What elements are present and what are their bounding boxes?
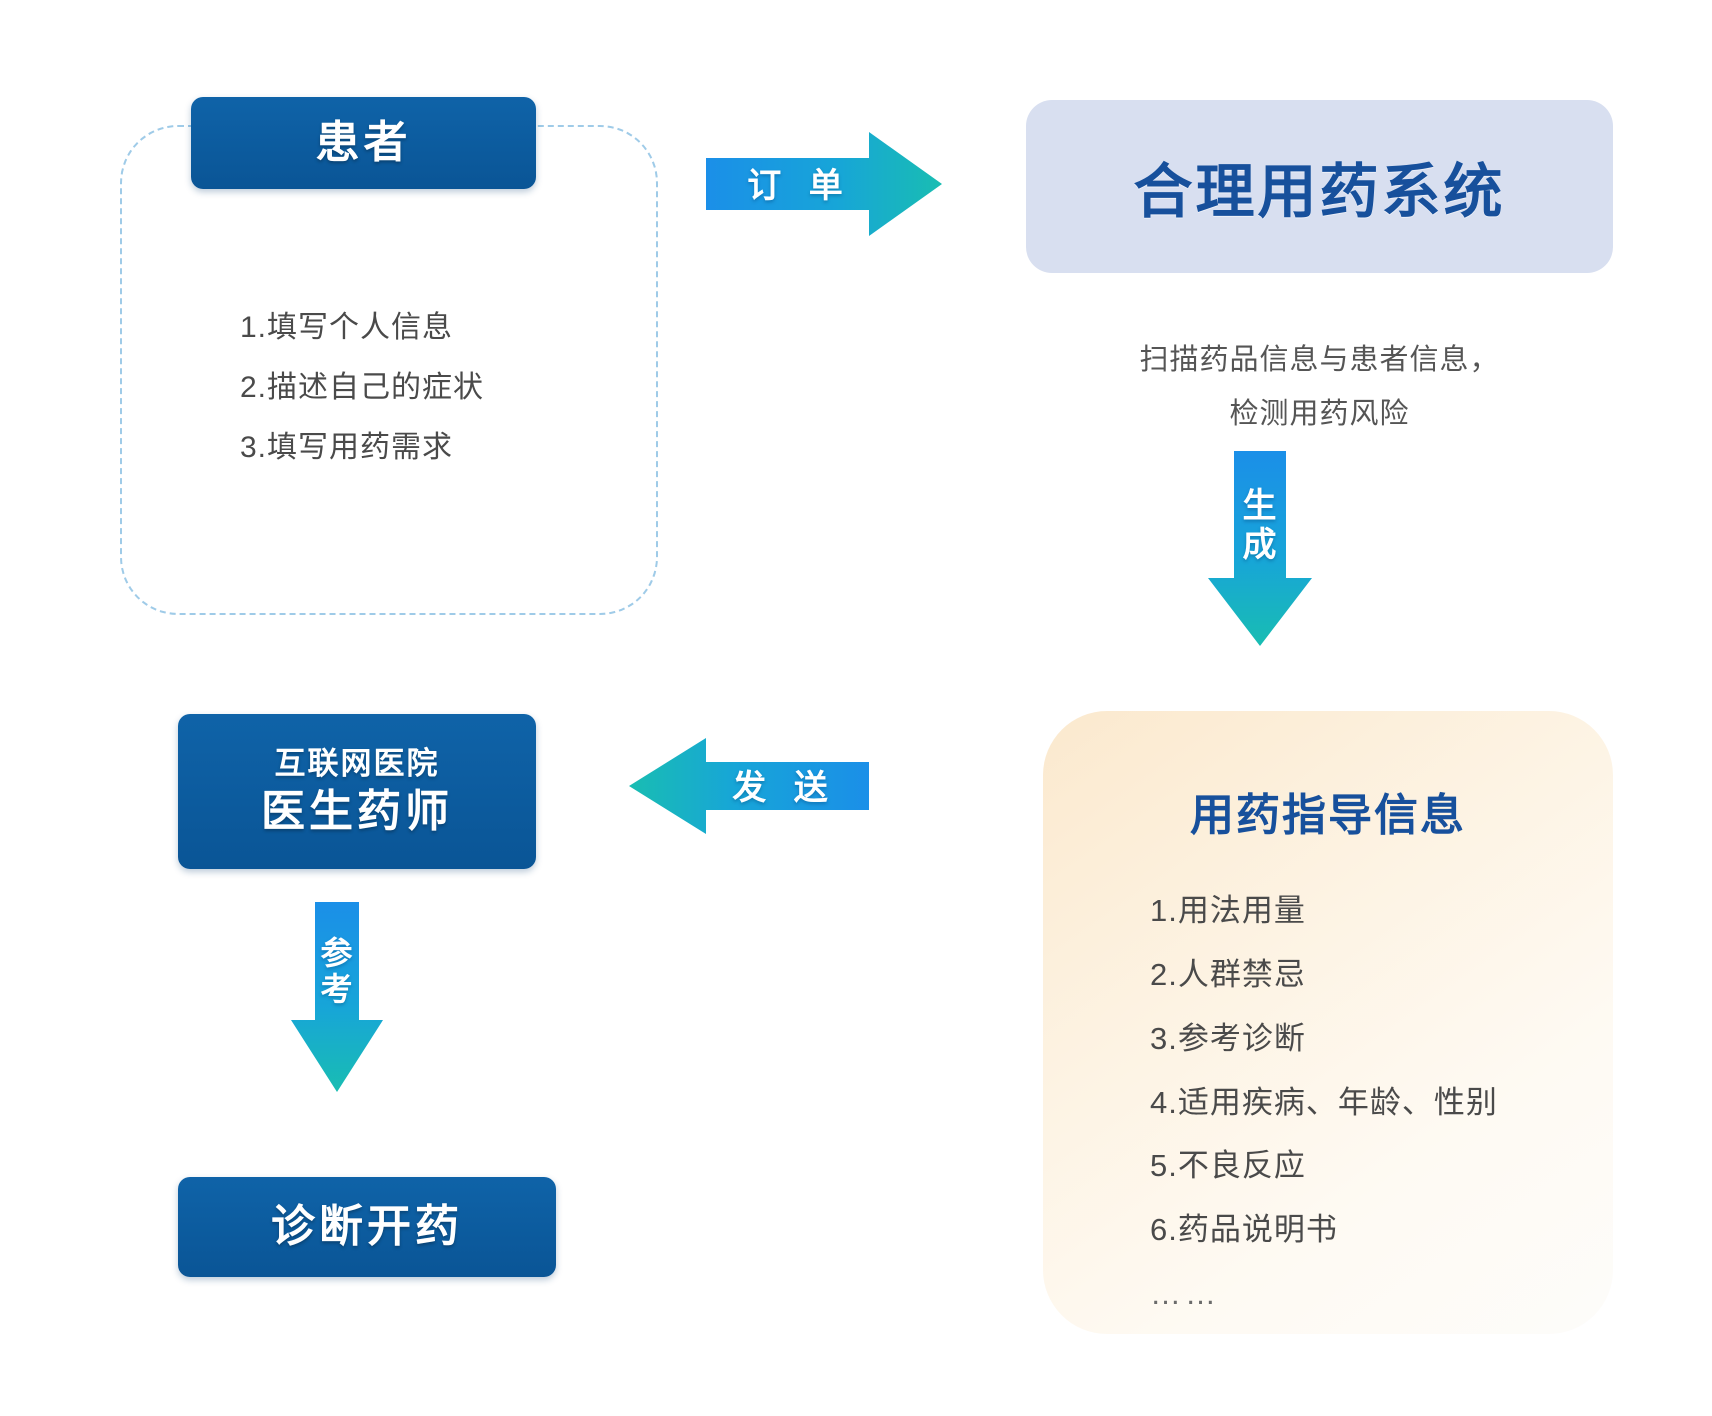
clinician-box[interactable]: 互联网医院 医生药师 [178,714,536,869]
system-title: 合理用药系统 [1133,144,1505,229]
arrow-down-icon [1208,451,1312,646]
guidance-item-6: 6.药品说明书 [1150,1198,1601,1262]
guidance-item-4: 4.适用疾病、年龄、性别 [1150,1071,1601,1135]
prescribe-box[interactable]: 诊断开药 [178,1177,556,1277]
patient-step-list: 1.填写个人信息 2.描述自己的症状 3.填写用药需求 [240,298,660,478]
send-arrow: 发 送 [629,738,869,834]
guidance-title: 用药指导信息 [1043,779,1613,843]
patient-box[interactable]: 患者 [191,97,536,189]
system-box[interactable]: 合理用药系统 [1026,100,1613,273]
arrow-right-icon [706,132,942,236]
system-description-line-1: 扫描药品信息与患者信息， [1026,334,1613,388]
guidance-item-1: 1.用法用量 [1150,879,1601,943]
generate-arrow: 生 成 [1208,451,1312,646]
guidance-item-2: 2.人群禁忌 [1150,943,1601,1007]
patient-step-1: 1.填写个人信息 [240,298,660,358]
system-description: 扫描药品信息与患者信息， 检测用药风险 [1026,334,1613,441]
guidance-item-5: 5.不良反应 [1150,1134,1601,1198]
guidance-card[interactable]: 用药指导信息 1.用法用量 2.人群禁忌 3.参考诊断 4.适用疾病、年龄、性别… [1043,711,1613,1334]
flowchart-canvas: 患者 1.填写个人信息 2.描述自己的症状 3.填写用药需求 订 单 合理用药系… [0,0,1712,1416]
guidance-item-3: 3.参考诊断 [1150,1007,1601,1071]
clinician-box-line-1: 互联网医院 [275,747,440,782]
patient-step-3: 3.填写用药需求 [240,418,660,478]
arrow-left-icon [629,738,869,834]
prescribe-box-label: 诊断开药 [271,1202,463,1251]
order-arrow: 订 单 [706,132,942,236]
clinician-box-line-2: 医生药师 [261,787,453,836]
guidance-item-list: 1.用法用量 2.人群禁忌 3.参考诊断 4.适用疾病、年龄、性别 5.不良反应… [1150,879,1601,1326]
patient-box-label: 患者 [316,118,412,167]
system-description-line-2: 检测用药风险 [1026,388,1613,442]
reference-arrow: 参 考 [291,902,383,1092]
guidance-more-ellipsis: …… [1150,1262,1601,1326]
arrow-down-icon [291,902,383,1092]
patient-step-2: 2.描述自己的症状 [240,358,660,418]
